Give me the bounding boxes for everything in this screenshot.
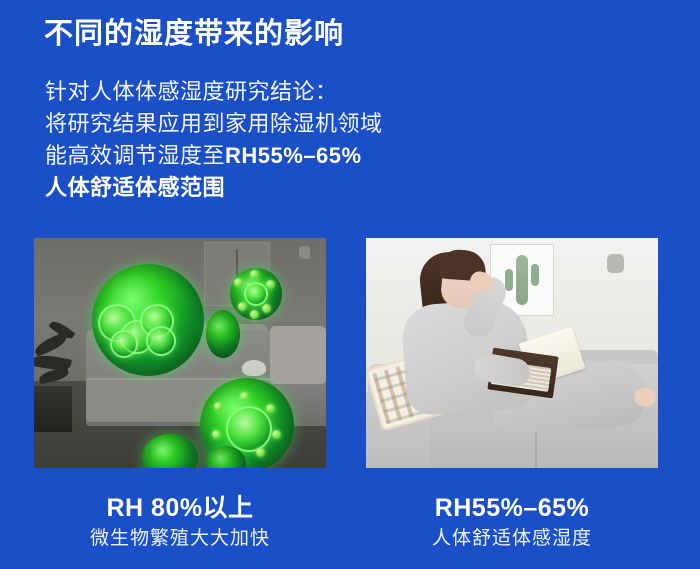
bright-room-scene xyxy=(366,238,658,468)
woman-foot xyxy=(634,388,656,406)
microbe-cell xyxy=(226,406,272,452)
body-line-1: 针对人体体感湿度研究结论： xyxy=(45,76,383,108)
dim-sofa-cushion xyxy=(242,360,266,376)
body-line-3: 能高效调节湿度至RH55%–65% xyxy=(45,140,383,172)
plant-pot xyxy=(34,386,72,432)
microbe-spike xyxy=(266,404,275,413)
caption-main: RH 80%以上 xyxy=(34,493,326,523)
body-line-2: 将研究结果应用到家用除湿机领域 xyxy=(45,108,383,140)
poster-root: 不同的湿度带来的影响 针对人体体感湿度研究结论： 将研究结果应用到家用除湿机领域… xyxy=(0,0,700,569)
caption-main: RH55%–65% xyxy=(366,493,658,523)
microbe-spike xyxy=(266,280,275,289)
dim-room-scene xyxy=(34,238,326,468)
microbe-spike xyxy=(250,270,259,279)
microbe-blob xyxy=(206,310,240,358)
microbe-spike xyxy=(238,302,247,311)
microbe-spike xyxy=(272,430,281,439)
microbe-cell xyxy=(244,282,268,306)
body-line-3-prefix: 能高效调节湿度至 xyxy=(45,143,225,168)
body-line-3-highlight: RH55%–65% xyxy=(225,143,362,168)
microbe-spike xyxy=(234,278,243,287)
microbe-spike xyxy=(256,448,265,457)
microbe-spike xyxy=(214,402,223,411)
microbe-spike xyxy=(212,430,221,439)
woman-reading xyxy=(366,238,658,468)
wall-speaker-icon xyxy=(299,246,310,259)
microbe-blob xyxy=(92,264,204,376)
microbe-spike xyxy=(240,392,249,401)
body-line-4: 人体舒适体感范围 xyxy=(45,172,383,204)
body-copy: 针对人体体感湿度研究结论： 将研究结果应用到家用除湿机领域 能高效调节湿度至RH… xyxy=(45,76,383,204)
dim-sofa-arm xyxy=(270,326,326,384)
caption-comfort-humidity: RH55%–65% 人体舒适体感湿度 xyxy=(366,493,658,551)
microbe-spike xyxy=(250,310,259,319)
caption-sub: 微生物繁殖大大加快 xyxy=(34,527,326,551)
microbe-blob xyxy=(230,268,282,320)
caption-high-humidity: RH 80%以上 微生物繁殖大大加快 xyxy=(34,493,326,551)
page-title: 不同的湿度带来的影响 xyxy=(44,17,344,52)
microbe-spike xyxy=(262,304,271,313)
microbe-cell xyxy=(110,330,138,358)
panel-image-high-humidity xyxy=(34,238,326,468)
caption-sub: 人体舒适体感湿度 xyxy=(366,527,658,551)
microbe-cell xyxy=(146,326,176,356)
panel-image-comfort-humidity xyxy=(366,238,658,468)
